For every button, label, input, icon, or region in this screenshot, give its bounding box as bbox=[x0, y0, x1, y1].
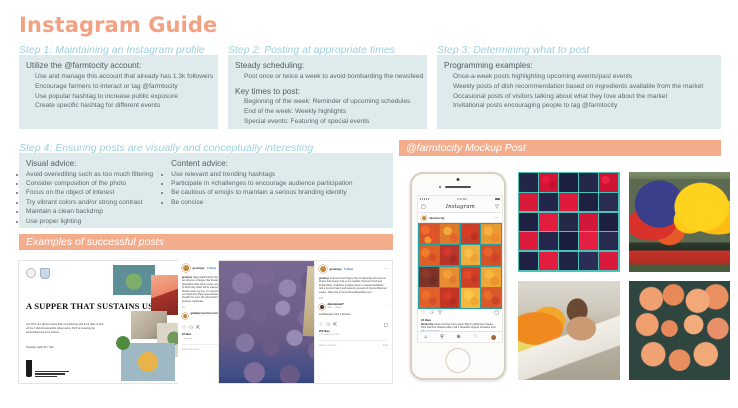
post-username[interactable]: farmtocity bbox=[430, 216, 445, 220]
list-item: Occasional posts of visitors talking abo… bbox=[453, 92, 714, 102]
share-icon[interactable]: ▽ bbox=[438, 311, 442, 316]
comment-icon[interactable]: ⚆ bbox=[429, 311, 433, 316]
reply-button[interactable]: Reply bbox=[335, 307, 341, 309]
share-icon[interactable]: ⇱ bbox=[196, 325, 200, 331]
step-2-box: Steady scheduling: Post once or twice a … bbox=[228, 55, 427, 129]
logo-glyph-icon bbox=[26, 360, 32, 377]
comment-time: 20w bbox=[328, 307, 332, 309]
block-title: Steady scheduling: bbox=[235, 61, 420, 71]
step-1-box: Utilize the @farmtocity account: Use and… bbox=[19, 55, 218, 129]
home-icon[interactable]: ⌂ bbox=[424, 334, 427, 340]
activity-heart-icon[interactable]: ♡ bbox=[473, 334, 477, 340]
caption-username[interactable]: growmyc bbox=[319, 278, 329, 280]
seal-icon bbox=[26, 268, 36, 278]
post-author-row[interactable]: growmyc Follow ⋯ bbox=[319, 265, 388, 273]
heart-icon[interactable]: ♡ bbox=[385, 304, 388, 308]
earpiece-speaker bbox=[445, 186, 471, 188]
avatar[interactable] bbox=[421, 215, 427, 221]
block-list: Use relevant and trending hashtags Parti… bbox=[171, 170, 352, 207]
post-username[interactable]: growmyc bbox=[330, 267, 342, 271]
list-item: Maintain a clean backdrop bbox=[26, 207, 153, 216]
add-comment-row[interactable]: Add a comment... Post bbox=[319, 340, 388, 347]
content-advice-column: Content advice: Use relevant and trendin… bbox=[171, 159, 352, 226]
mockup-banner: @farmtocity Mockup Post bbox=[399, 140, 721, 156]
send-icon[interactable]: ▽ bbox=[495, 205, 499, 210]
example-post-grapes: growmyc Follow ⋯ growmyc Concord Crush H… bbox=[218, 260, 393, 384]
post-action-bar: ♡ ⚆ ▽ ▢ bbox=[418, 309, 502, 318]
block-title: Utilize the @farmtocity account: bbox=[26, 61, 211, 71]
page-title: Instagram Guide bbox=[19, 13, 217, 37]
block-list: Avoid overediting such as too much filte… bbox=[26, 170, 153, 226]
battery-icon bbox=[495, 198, 500, 201]
list-item: Use and manage this account that already… bbox=[35, 72, 211, 82]
follow-button[interactable]: Follow bbox=[207, 266, 216, 270]
citrus-stall-photo bbox=[629, 172, 731, 272]
avatar[interactable] bbox=[319, 265, 327, 273]
step-3-box: Programming examples: Once-a-week posts … bbox=[437, 55, 721, 129]
proximity-sensor-icon bbox=[439, 186, 441, 188]
list-item: Be cautious of emojis to maintain a seri… bbox=[171, 188, 352, 197]
post-comment-button[interactable]: Post bbox=[383, 344, 388, 347]
photo-grid bbox=[518, 172, 730, 380]
market-stall-art bbox=[629, 172, 731, 272]
comment-icon[interactable]: ⚆ bbox=[189, 325, 193, 331]
block-list: Use and manage this account that already… bbox=[26, 72, 211, 112]
heart-icon[interactable]: ♡ bbox=[319, 322, 323, 328]
berry-crate-grid bbox=[518, 172, 620, 272]
list-item: Be concise bbox=[171, 198, 352, 207]
step-2-block-keytimes: Key times to post: Beginning of the week… bbox=[235, 87, 420, 127]
peaches-art bbox=[629, 281, 731, 381]
search-icon[interactable]: ⚲ bbox=[440, 334, 444, 340]
phone-earpiece-area bbox=[412, 174, 504, 194]
list-item: Avoid overediting such as too much filte… bbox=[26, 170, 153, 179]
visual-advice-column: Visual advice: Avoid overediting such as… bbox=[26, 159, 153, 226]
examples-banner: Examples of successful posts bbox=[19, 234, 393, 250]
post-date: OCTOBER 10, 2019 bbox=[319, 334, 388, 336]
block-title: Content advice: bbox=[171, 159, 352, 169]
org-logo bbox=[26, 360, 69, 377]
iphone-mockup: 9:41 AM ▢ Instagram ▽ farmtocity ⋯ bbox=[410, 172, 506, 380]
list-item: Use popular hashtag to increase public e… bbox=[35, 92, 211, 102]
list-item: Consider composition of the photo bbox=[26, 179, 153, 188]
list-item: Try vibrant colors and/or strong contras… bbox=[26, 198, 153, 207]
block-title: Visual advice: bbox=[26, 159, 153, 169]
list-item: Beginning of the week: Reminder of upcom… bbox=[244, 97, 420, 107]
more-options-icon[interactable]: ⋯ bbox=[495, 215, 499, 220]
instagram-wordmark: Instagram bbox=[446, 204, 475, 210]
step-2-block-scheduling: Steady scheduling: Post once or twice a … bbox=[235, 61, 420, 82]
camera-icon[interactable]: ▢ bbox=[421, 205, 426, 210]
instagram-sidebar-grapes: growmyc Follow ⋯ growmyc Concord Crush H… bbox=[314, 261, 392, 383]
caption-username[interactable]: growmyc bbox=[182, 277, 192, 279]
peaches-photo bbox=[629, 281, 731, 381]
post-photo-tomato-crates bbox=[418, 223, 502, 309]
list-item: Focus on the object of interest bbox=[26, 188, 153, 197]
avatar[interactable] bbox=[182, 313, 188, 319]
list-item: Create specific hashtag for different ev… bbox=[35, 101, 211, 111]
heart-icon[interactable]: ♡ bbox=[182, 325, 186, 331]
phone-screen: 9:41 AM ▢ Instagram ▽ farmtocity ⋯ bbox=[417, 195, 503, 343]
caption-text: Good morning! we're open! Stop by Dickin… bbox=[421, 323, 496, 329]
comment-row: ellenramirez27 20w Reply ♡ bbox=[319, 304, 388, 311]
list-item: Use proper lighting bbox=[26, 217, 153, 226]
follow-button[interactable]: Follow bbox=[344, 267, 353, 271]
shopper-photo bbox=[518, 281, 620, 381]
list-item: Once-a-week posts highlighting upcoming … bbox=[453, 72, 714, 82]
list-item: Encourage farmers to interact or tag @fa… bbox=[35, 82, 211, 92]
front-camera-icon bbox=[457, 178, 460, 181]
share-icon[interactable]: ⇱ bbox=[333, 322, 337, 328]
example-posts-strip: A SUPPER THAT SUSTAINS US Join NYC & I (… bbox=[18, 258, 393, 386]
list-item: Use relevant and trending hashtags bbox=[171, 170, 352, 179]
signal-icon bbox=[420, 198, 429, 199]
add-comment-input[interactable]: Add a comment... bbox=[182, 348, 201, 351]
post-username[interactable]: growmyc bbox=[193, 266, 205, 270]
instagram-nav-bar: ▢ Instagram ▽ bbox=[418, 202, 502, 213]
supper-body: Join NYC & I (Real) Central Park on part… bbox=[26, 323, 104, 335]
step-3-block: Programming examples: Once-a-week posts … bbox=[444, 61, 714, 111]
post-author-row[interactable]: farmtocity ⋯ bbox=[418, 213, 502, 223]
berry-crates-photo bbox=[518, 172, 620, 272]
block-list: Beginning of the week: Reminder of upcom… bbox=[235, 97, 420, 127]
logo-wordmark bbox=[35, 371, 69, 377]
more-options-icon[interactable]: ⋯ bbox=[384, 267, 388, 271]
comment-username[interactable]: ellenramirez27 bbox=[328, 304, 344, 306]
comment-icon[interactable]: ⚆ bbox=[326, 322, 330, 328]
block-title: Key times to post: bbox=[235, 87, 420, 97]
avatar[interactable] bbox=[319, 304, 325, 310]
instagram-guide-poster: Instagram Guide Step 1: Maintaining an I… bbox=[0, 0, 738, 408]
block-title: Programming examples: bbox=[444, 61, 714, 71]
shield-icon bbox=[40, 268, 50, 279]
list-item: Post once or twice a week to avoid bomba… bbox=[244, 72, 420, 82]
tomato-crate-grid bbox=[418, 223, 502, 309]
avatar[interactable] bbox=[182, 264, 190, 272]
step-1-block: Utilize the @farmtocity account: Use and… bbox=[26, 61, 211, 111]
heart-icon[interactable]: ♡ bbox=[421, 311, 425, 316]
block-list: Once-a-week posts highlighting upcoming … bbox=[444, 72, 714, 112]
profile-avatar[interactable] bbox=[491, 335, 496, 340]
add-comment-input[interactable]: Add a comment... bbox=[319, 344, 338, 347]
instagram-tab-bar: ⌂ ⚲ ⊕ ♡ bbox=[418, 331, 502, 342]
bookmark-icon[interactable]: ▢ bbox=[494, 311, 499, 316]
leaf-sprig-icon bbox=[111, 335, 131, 355]
post-time: 20w bbox=[319, 298, 388, 300]
list-item: Participate in #challenges to encourage … bbox=[171, 179, 352, 188]
post-action-bar: ♡ ⚆ ⇱ ▢ bbox=[319, 322, 388, 328]
block-list: Post once or twice a week to avoid bomba… bbox=[235, 72, 420, 82]
list-item: Special events: Featuring of special eve… bbox=[244, 117, 420, 127]
like-count: 259 likes bbox=[319, 330, 388, 333]
add-post-icon[interactable]: ⊕ bbox=[457, 334, 461, 340]
status-time: 9:41 AM bbox=[457, 198, 467, 201]
comment-username[interactable]: growmyc bbox=[191, 313, 201, 315]
list-item: Invitational posts encouraging people to… bbox=[453, 101, 714, 111]
caption-text: Concord Crush Happy Hour is happening to… bbox=[319, 278, 386, 294]
badge-row bbox=[26, 268, 50, 279]
other-likes-text: achildbenjamin and 1,240 likes bbox=[319, 314, 388, 316]
bookmark-icon[interactable]: ▢ bbox=[384, 322, 388, 328]
step-4-box: Visual advice: Avoid overediting such as… bbox=[19, 153, 393, 228]
post-caption: growmyc Concord Crush Happy Hour is happ… bbox=[319, 278, 388, 295]
home-button[interactable] bbox=[446, 348, 471, 373]
list-item: Weekly posts of dish recommendation base… bbox=[453, 82, 714, 92]
list-item: End of the week: Weekly highlights bbox=[244, 107, 420, 117]
supper-date: Tuesday, April 30 | 7pm bbox=[26, 345, 54, 349]
shopper-art bbox=[518, 281, 620, 381]
